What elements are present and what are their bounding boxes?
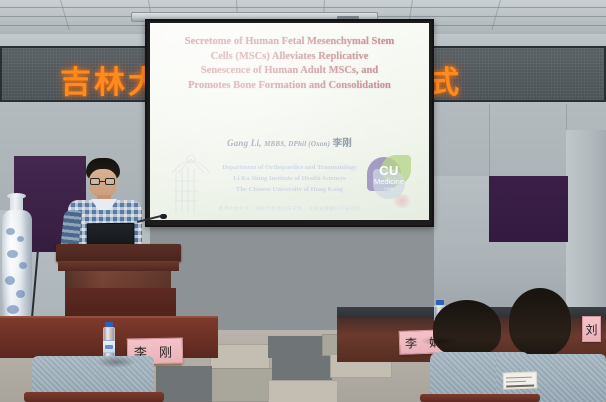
podium-top-surface — [56, 244, 181, 262]
glasses-bridge — [100, 181, 105, 182]
microphone-head — [160, 214, 167, 219]
curtain-right — [489, 176, 568, 242]
presenter-degrees: MBBS, DPhil (Oxon) — [264, 140, 330, 148]
bottle-shadow-left — [96, 356, 136, 368]
audience-head-right — [509, 288, 571, 356]
glasses-right-lens — [105, 178, 115, 185]
slide-footer-text: 香港中文大学 · 矫形外科及创伤学系 · 李嘉诚健康科学研究所 — [150, 206, 429, 212]
slide-title: Secretome of Human Fetal Mesenchymal Ste… — [160, 35, 419, 93]
wall-column-right — [566, 130, 606, 330]
slide-title-line-2: Cells (MSCs) Alleviates Replicative — [160, 50, 419, 65]
projection-screen: Secretome of Human Fetal Mesenchymal Ste… — [145, 19, 434, 227]
glasses-left-lens — [90, 178, 100, 185]
conference-room-photo: 吉林大 仪式 Secretome of Human Fetal Mesench — [0, 0, 606, 402]
presenter-name-cjk: 李刚 — [333, 138, 352, 149]
logo-text-medicine: Medicine — [365, 178, 413, 186]
name-card-right: 刘 — [582, 316, 601, 342]
slide-title-line-1: Secretome of Human Fetal Mesenchymal Ste… — [160, 35, 419, 50]
bottle-shadow-right — [420, 336, 460, 346]
bottle-label — [103, 340, 115, 353]
chair-rail-left — [24, 392, 164, 402]
podium-lip — [58, 261, 179, 271]
logo-text: CU Medicine CUHK — [365, 164, 413, 191]
audience-head-center — [433, 300, 501, 356]
presenter-name: Gang Li, — [227, 138, 262, 148]
logo-text-cuhk: CUHK — [365, 188, 413, 191]
slide-title-line-4: Promotes Bone Formation and Consolidatio… — [160, 79, 419, 94]
paper-slip — [503, 371, 538, 389]
led-banner-left: 吉林大 — [0, 46, 168, 102]
slide-title-line-3: Senescence of Human Adult MSCs, and — [160, 64, 419, 79]
logo-text-cu: CU — [365, 164, 413, 177]
chair-rail-center — [420, 394, 540, 402]
projected-slide: Secretome of Human Fetal Mesenchymal Ste… — [150, 23, 429, 220]
slide-presenter-line: Gang Li, MBBS, DPhil (Oxon) 李刚 — [150, 135, 429, 149]
